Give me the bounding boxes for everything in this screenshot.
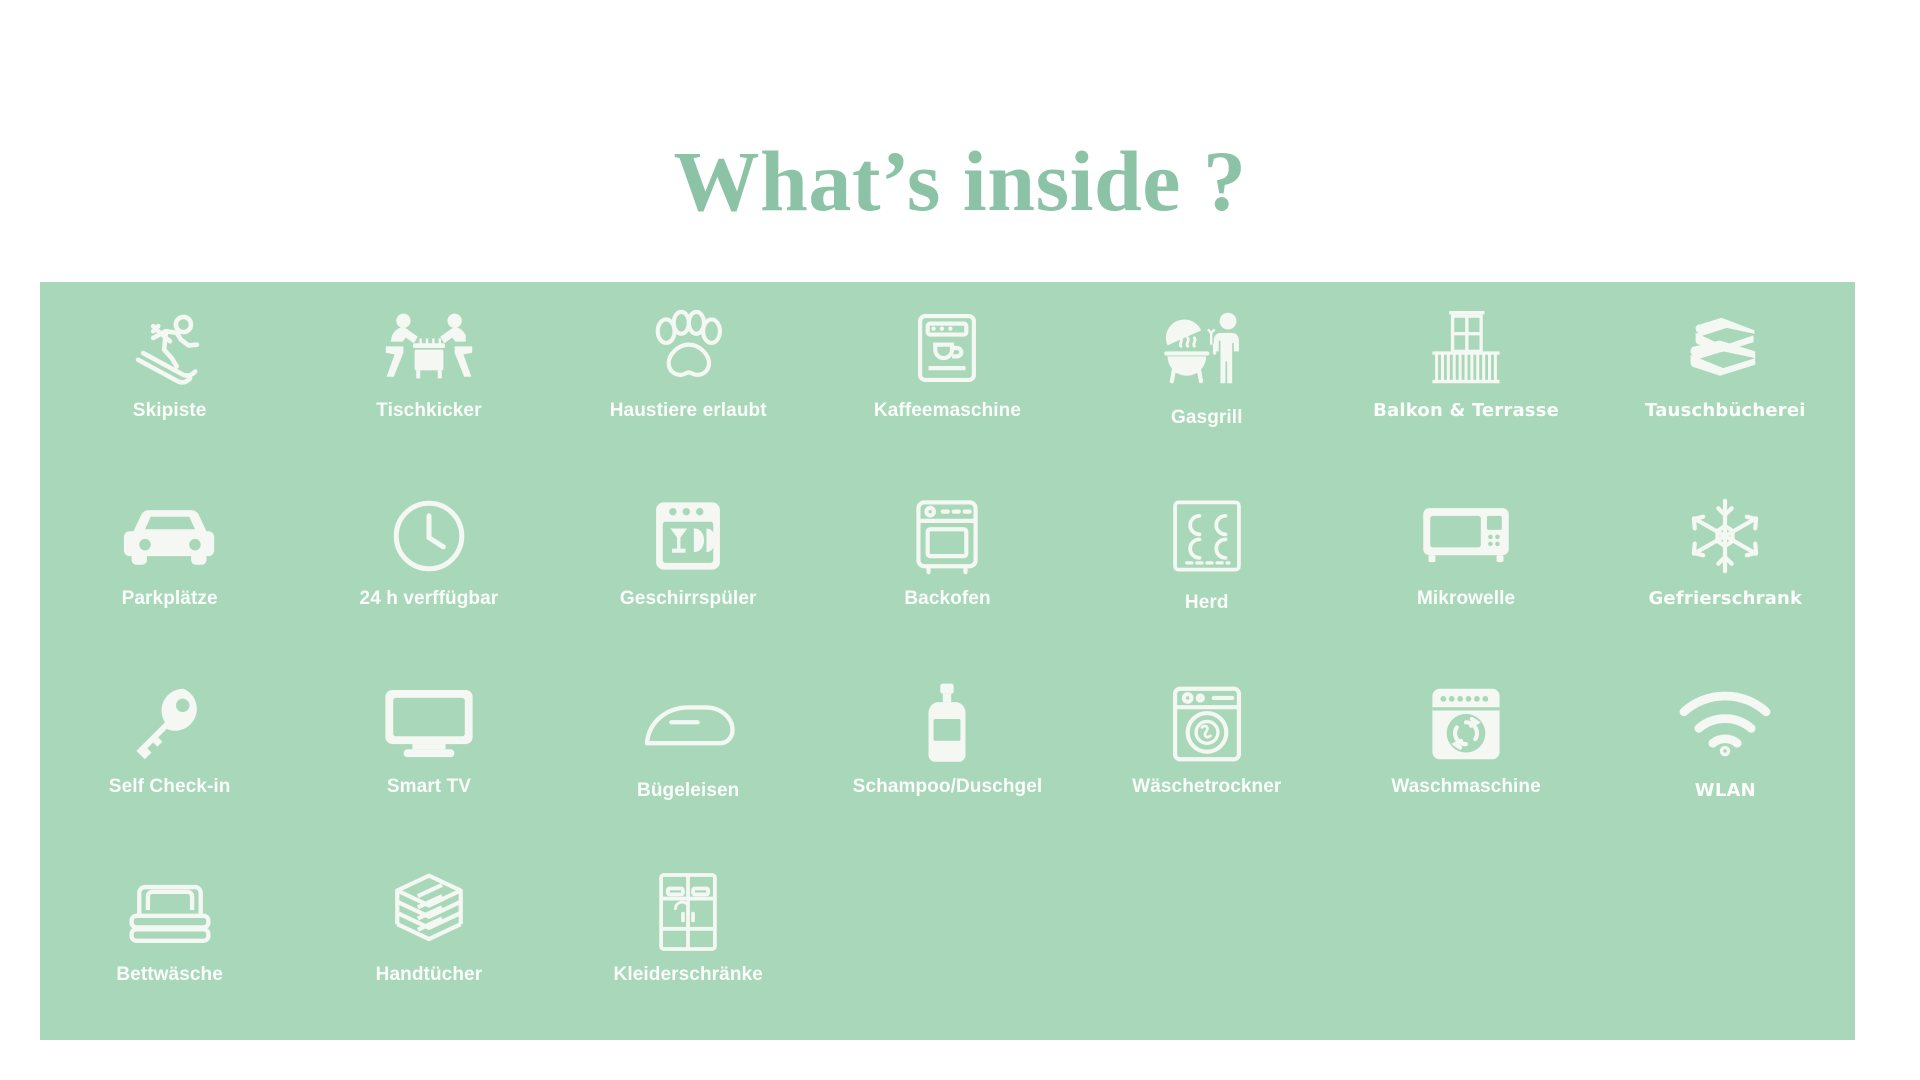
amenity-label: Gefrierschrank [1648, 588, 1802, 610]
amenity-item-wlan: WLAN [1596, 674, 1855, 862]
amenity-item-handtuecher: Handtücher [299, 862, 558, 1040]
washing-machine-icon [1418, 682, 1514, 766]
amenity-label: Backofen [904, 588, 990, 611]
amenity-item-smart-tv: Smart TV [299, 674, 558, 862]
amenity-item-waeschetrockner: Wäschetrockner [1077, 674, 1336, 862]
amenity-item-tauschbuecherei: Tauschbücherei [1596, 298, 1855, 486]
amenity-item-self-check-in: Self Check-in [40, 674, 299, 862]
amenity-item-gefrierschrank: Gefrierschrank [1596, 486, 1855, 674]
amenity-item-waschmaschine: Waschmaschine [1336, 674, 1595, 862]
amenity-label: Bügeleisen [637, 780, 739, 803]
amenity-item-geschirrspueler: Geschirrspüler [559, 486, 818, 674]
amenity-label: Kleiderschränke [614, 964, 763, 987]
amenity-item-backofen: Backofen [818, 486, 1077, 674]
amenity-label: Skipiste [133, 400, 207, 423]
car-icon [122, 494, 218, 578]
amenity-label: Geschirrspüler [620, 588, 757, 611]
amenity-item-skipiste: Skipiste [40, 298, 299, 486]
tumble-dryer-icon [1159, 682, 1255, 766]
amenity-item-mikrowelle: Mikrowelle [1336, 486, 1595, 674]
amenities-grid: Skipiste [40, 282, 1855, 1040]
wifi-icon [1677, 682, 1773, 766]
television-icon [381, 682, 477, 766]
amenity-label: Smart TV [387, 776, 471, 799]
foosball-table-icon [381, 306, 477, 390]
skier-icon [122, 306, 218, 390]
amenity-label: Gasgrill [1171, 407, 1243, 430]
amenity-item-schampoo-duschgel: Schampoo/Duschgel [818, 674, 1077, 862]
amenity-item-tischkicker: Tischkicker [299, 298, 558, 486]
amenity-label: Kaffeemaschine [874, 400, 1021, 423]
snowflake-icon [1677, 494, 1773, 578]
amenity-label: Herd [1185, 592, 1229, 615]
amenities-panel: Skipiste [40, 282, 1855, 1040]
amenity-item-parkplaetze: Parkplätze [40, 486, 299, 674]
dishwasher-icon [640, 494, 736, 578]
page-title: What’s inside ? [674, 136, 1247, 226]
bbq-grill-icon [1159, 306, 1255, 390]
microwave-icon [1418, 494, 1514, 578]
key-icon [122, 682, 218, 766]
amenity-label: Tischkicker [376, 400, 481, 423]
book-stack-icon [1677, 306, 1773, 390]
amenity-label: Parkplätze [122, 588, 218, 611]
bed-linen-icon [122, 870, 218, 954]
clock-icon [381, 494, 477, 578]
iron-icon [640, 682, 736, 766]
wardrobe-icon [640, 870, 736, 954]
amenity-label: Tauschbücherei [1645, 400, 1806, 422]
amenity-item-balkon-terrasse: Balkon & Terrasse [1336, 298, 1595, 486]
page-title-container: What’s inside ? [0, 78, 1920, 284]
balcony-railing-icon [1418, 306, 1514, 390]
amenity-label: Balkon & Terrasse [1373, 400, 1559, 422]
amenity-item-kaffeemaschine: Kaffeemaschine [818, 298, 1077, 486]
cooktop-icon [1159, 494, 1255, 578]
amenity-label: Bettwäsche [116, 964, 223, 987]
amenity-label: Wäschetrockner [1132, 776, 1281, 799]
amenity-item-gasgrill: Gasgrill [1077, 298, 1336, 486]
amenity-label: Waschmaschine [1391, 776, 1541, 799]
amenity-item-haustiere-erlaubt: Haustiere erlaubt [559, 298, 818, 486]
amenity-item-bettwaesche: Bettwäsche [40, 862, 299, 1040]
oven-icon [899, 494, 995, 578]
towel-stack-icon [381, 870, 477, 954]
coffee-machine-icon [899, 306, 995, 390]
amenity-item-kleiderschraenke: Kleiderschränke [559, 862, 818, 1040]
amenity-item-24h-verfuegbar: 24 h verffügbar [299, 486, 558, 674]
amenity-label: Haustiere erlaubt [610, 400, 767, 423]
amenity-item-herd: Herd [1077, 486, 1336, 674]
amenity-label: Schampoo/Duschgel [853, 776, 1043, 799]
shampoo-bottle-icon [899, 682, 995, 766]
amenity-label: 24 h verffügbar [360, 588, 499, 611]
amenities-page: What’s inside ? Skipiste [0, 0, 1920, 1080]
amenity-item-buegeleisen: Bügeleisen [559, 674, 818, 862]
amenity-label: Handtücher [376, 964, 483, 987]
amenity-label: Mikrowelle [1417, 588, 1515, 611]
amenity-label: WLAN [1695, 780, 1756, 802]
paw-print-icon [640, 306, 736, 390]
amenity-label: Self Check-in [109, 776, 231, 799]
